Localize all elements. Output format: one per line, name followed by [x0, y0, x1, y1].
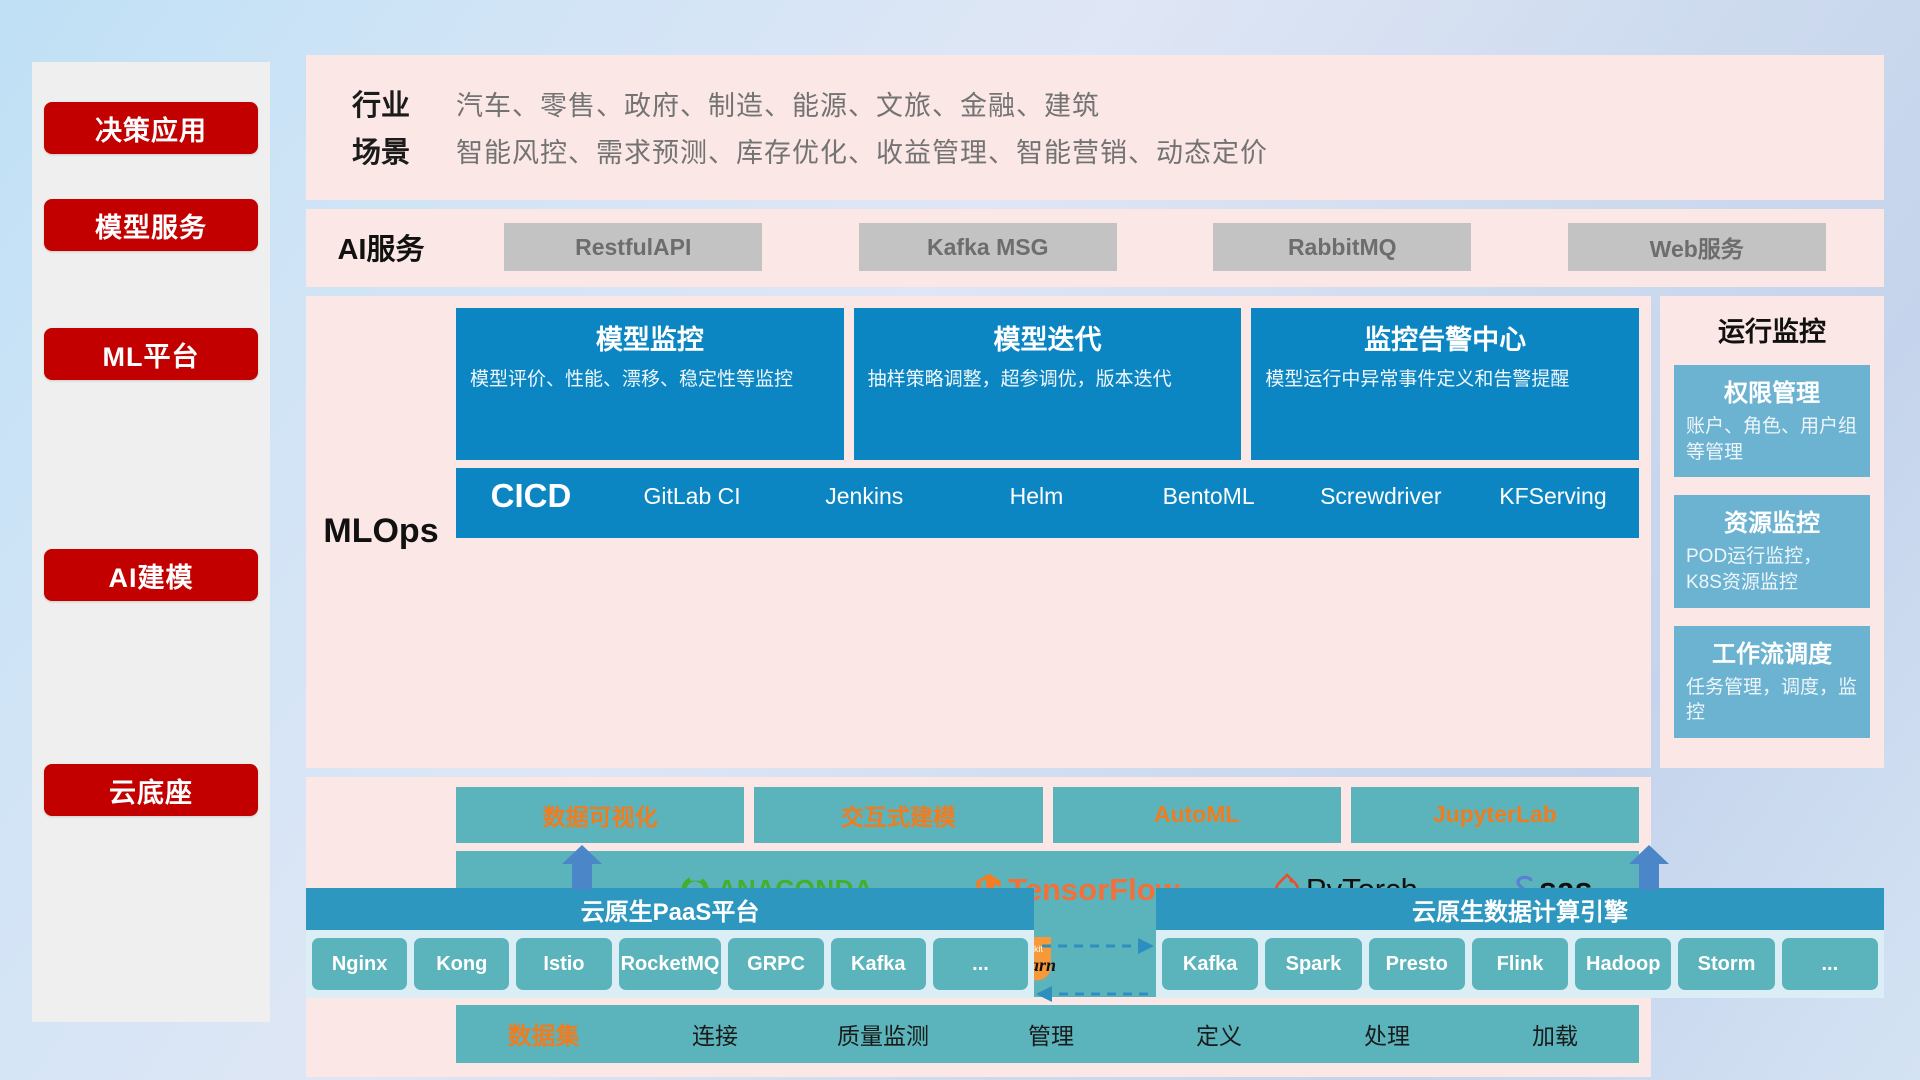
monitor-card-resource[interactable]: 资源监控 POD运行监控，K8S资源监控 — [1674, 495, 1870, 607]
compute-chip-flink[interactable]: Flink — [1472, 938, 1568, 990]
ai-service-label: AI服务 — [306, 226, 456, 268]
monitor-card-title: 工作流调度 — [1686, 634, 1858, 669]
compute-chip-spark[interactable]: Spark — [1265, 938, 1361, 990]
rail-item-model-service[interactable]: 模型服务 — [44, 199, 258, 251]
mlops-card-title: 模型迭代 — [868, 318, 1228, 357]
monitor-card-title: 资源监控 — [1686, 503, 1858, 538]
ml-lab-tab-jupyterlab[interactable]: JupyterLab — [1351, 787, 1639, 843]
runtime-monitor-title: 运行监控 — [1674, 310, 1870, 349]
ml-lab-tab-interactive-modeling[interactable]: 交互式建模 — [754, 787, 1042, 843]
mlops-card-title: 模型监控 — [470, 318, 830, 357]
mlops-card-list: 模型监控 模型评价、性能、漂移、稳定性等监控 模型迭代 抽样策略调整，超参调优，… — [456, 308, 1639, 460]
cicd-title: CICD — [456, 478, 606, 514]
paas-chip-grpc[interactable]: GRPC — [728, 938, 823, 990]
mlops-card-desc: 抽样策略调整，超参调优，版本迭代 — [868, 367, 1228, 393]
cicd-item-gitlab-ci[interactable]: GitLab CI — [606, 478, 778, 511]
compute-chip-hadoop[interactable]: Hadoop — [1575, 938, 1671, 990]
monitor-card-desc: 账户、角色、用户组等管理 — [1686, 414, 1858, 465]
paas-chip-kong[interactable]: Kong — [414, 938, 509, 990]
cloud-foundation-row: 云原生PaaS平台 Nginx Kong Istio RocketMQ GRPC… — [306, 888, 1884, 1048]
scenario-values: 智能风控、需求预测、库存优化、收益管理、智能营销、动态定价 — [456, 131, 1268, 170]
cicd-item-kfserving[interactable]: KFServing — [1467, 478, 1639, 511]
ai-service-chip-restfulapi[interactable]: RestfulAPI — [504, 223, 762, 271]
mlops-card-alert-center[interactable]: 监控告警中心 模型运行中异常事件定义和告警提醒 — [1251, 308, 1639, 460]
ml-lab-tab-list: 数据可视化 交互式建模 AutoML JupyterLab — [456, 787, 1639, 843]
runtime-monitor-panel: 运行监控 权限管理 账户、角色、用户组等管理 资源监控 POD运行监控，K8S资… — [1660, 296, 1884, 768]
mlops-band: MLOps 模型监控 模型评价、性能、漂移、稳定性等监控 模型迭代 抽样策略调整… — [306, 296, 1651, 768]
mlops-card-model-monitoring[interactable]: 模型监控 模型评价、性能、漂移、稳定性等监控 — [456, 308, 844, 460]
paas-chip-kafka[interactable]: Kafka — [831, 938, 926, 990]
compute-chip-kafka[interactable]: Kafka — [1162, 938, 1258, 990]
monitor-card-title: 权限管理 — [1686, 373, 1858, 408]
cicd-item-helm[interactable]: Helm — [950, 478, 1122, 511]
data-compute-engine-header: 云原生数据计算引擎 — [1156, 888, 1884, 930]
foundation-connector-gap — [1034, 888, 1156, 1023]
rail-item-ai-modeling[interactable]: AI建模 — [44, 549, 258, 601]
ml-lab-tab-data-visualization[interactable]: 数据可视化 — [456, 787, 744, 843]
mlops-card-title: 监控告警中心 — [1265, 318, 1625, 357]
compute-chip-presto[interactable]: Presto — [1369, 938, 1465, 990]
ai-service-chip-web[interactable]: Web服务 — [1568, 223, 1826, 271]
mlops-and-monitor-row: MLOps 模型监控 模型评价、性能、漂移、稳定性等监控 模型迭代 抽样策略调整… — [306, 296, 1884, 768]
industry-row: 行业 汽车、零售、政府、制造、能源、文旅、金融、建筑 — [306, 82, 1884, 124]
ai-service-chip-list: RestfulAPI Kafka MSG RabbitMQ Web服务 — [456, 223, 1884, 271]
architecture-diagram: 决策应用 模型服务 ML平台 AI建模 云底座 行业 汽车、零售、政府、制造、能… — [0, 0, 1920, 1080]
data-compute-chip-list: Kafka Spark Presto Flink Hadoop Storm ..… — [1156, 930, 1884, 998]
compute-chip-more[interactable]: ... — [1782, 938, 1878, 990]
ai-service-chip-rabbitmq[interactable]: RabbitMQ — [1213, 223, 1471, 271]
mlops-card-desc: 模型评价、性能、漂移、稳定性等监控 — [470, 367, 830, 393]
monitor-card-workflow[interactable]: 工作流调度 任务管理，调度，监控 — [1674, 626, 1870, 738]
ai-service-band: AI服务 RestfulAPI Kafka MSG RabbitMQ Web服务 — [306, 209, 1884, 287]
paas-chip-list: Nginx Kong Istio RocketMQ GRPC Kafka ... — [306, 930, 1034, 998]
ai-service-chip-kafka-msg[interactable]: Kafka MSG — [859, 223, 1117, 271]
rail-item-decision-app[interactable]: 决策应用 — [44, 102, 258, 154]
industry-values: 汽车、零售、政府、制造、能源、文旅、金融、建筑 — [456, 84, 1100, 123]
paas-chip-rocketmq[interactable]: RocketMQ — [619, 938, 722, 990]
bidirectional-dashed-arrows — [1034, 888, 1156, 1018]
up-arrow-icon-right — [1626, 844, 1672, 890]
paas-platform-block: 云原生PaaS平台 Nginx Kong Istio RocketMQ GRPC… — [306, 888, 1034, 998]
paas-chip-nginx[interactable]: Nginx — [312, 938, 407, 990]
monitor-card-desc: 任务管理，调度，监控 — [1686, 675, 1858, 726]
paas-chip-more[interactable]: ... — [933, 938, 1028, 990]
cicd-item-screwdriver[interactable]: Screwdriver — [1295, 478, 1467, 511]
cicd-bar: CICD GitLab CI Jenkins Helm BentoML Scre… — [456, 468, 1639, 538]
paas-chip-istio[interactable]: Istio — [516, 938, 611, 990]
scenario-row: 场景 智能风控、需求预测、库存优化、收益管理、智能营销、动态定价 — [306, 129, 1884, 171]
mlops-label: MLOps — [306, 308, 456, 756]
industry-band: 行业 汽车、零售、政府、制造、能源、文旅、金融、建筑 场景 智能风控、需求预测、… — [306, 55, 1884, 200]
scenario-label: 场景 — [306, 129, 456, 171]
monitor-card-permission[interactable]: 权限管理 账户、角色、用户组等管理 — [1674, 365, 1870, 477]
ml-lab-tab-automl[interactable]: AutoML — [1053, 787, 1341, 843]
industry-label: 行业 — [306, 82, 456, 124]
cicd-item-bentoml[interactable]: BentoML — [1123, 478, 1295, 511]
cicd-item-jenkins[interactable]: Jenkins — [778, 478, 950, 511]
paas-platform-header: 云原生PaaS平台 — [306, 888, 1034, 930]
mlops-content: 模型监控 模型评价、性能、漂移、稳定性等监控 模型迭代 抽样策略调整，超参调优，… — [456, 308, 1639, 756]
rail-item-cloud-base[interactable]: 云底座 — [44, 764, 258, 816]
mlops-card-model-iteration[interactable]: 模型迭代 抽样策略调整，超参调优，版本迭代 — [854, 308, 1242, 460]
up-arrow-icon-left — [559, 844, 605, 890]
layer-rail: 决策应用 模型服务 ML平台 AI建模 云底座 — [32, 62, 270, 1022]
mlops-card-desc: 模型运行中异常事件定义和告警提醒 — [1265, 367, 1625, 393]
compute-chip-storm[interactable]: Storm — [1678, 938, 1774, 990]
data-compute-engine-block: 云原生数据计算引擎 Kafka Spark Presto Flink Hadoo… — [1156, 888, 1884, 998]
monitor-card-desc: POD运行监控，K8S资源监控 — [1686, 544, 1858, 595]
rail-item-ml-platform[interactable]: ML平台 — [44, 328, 258, 380]
